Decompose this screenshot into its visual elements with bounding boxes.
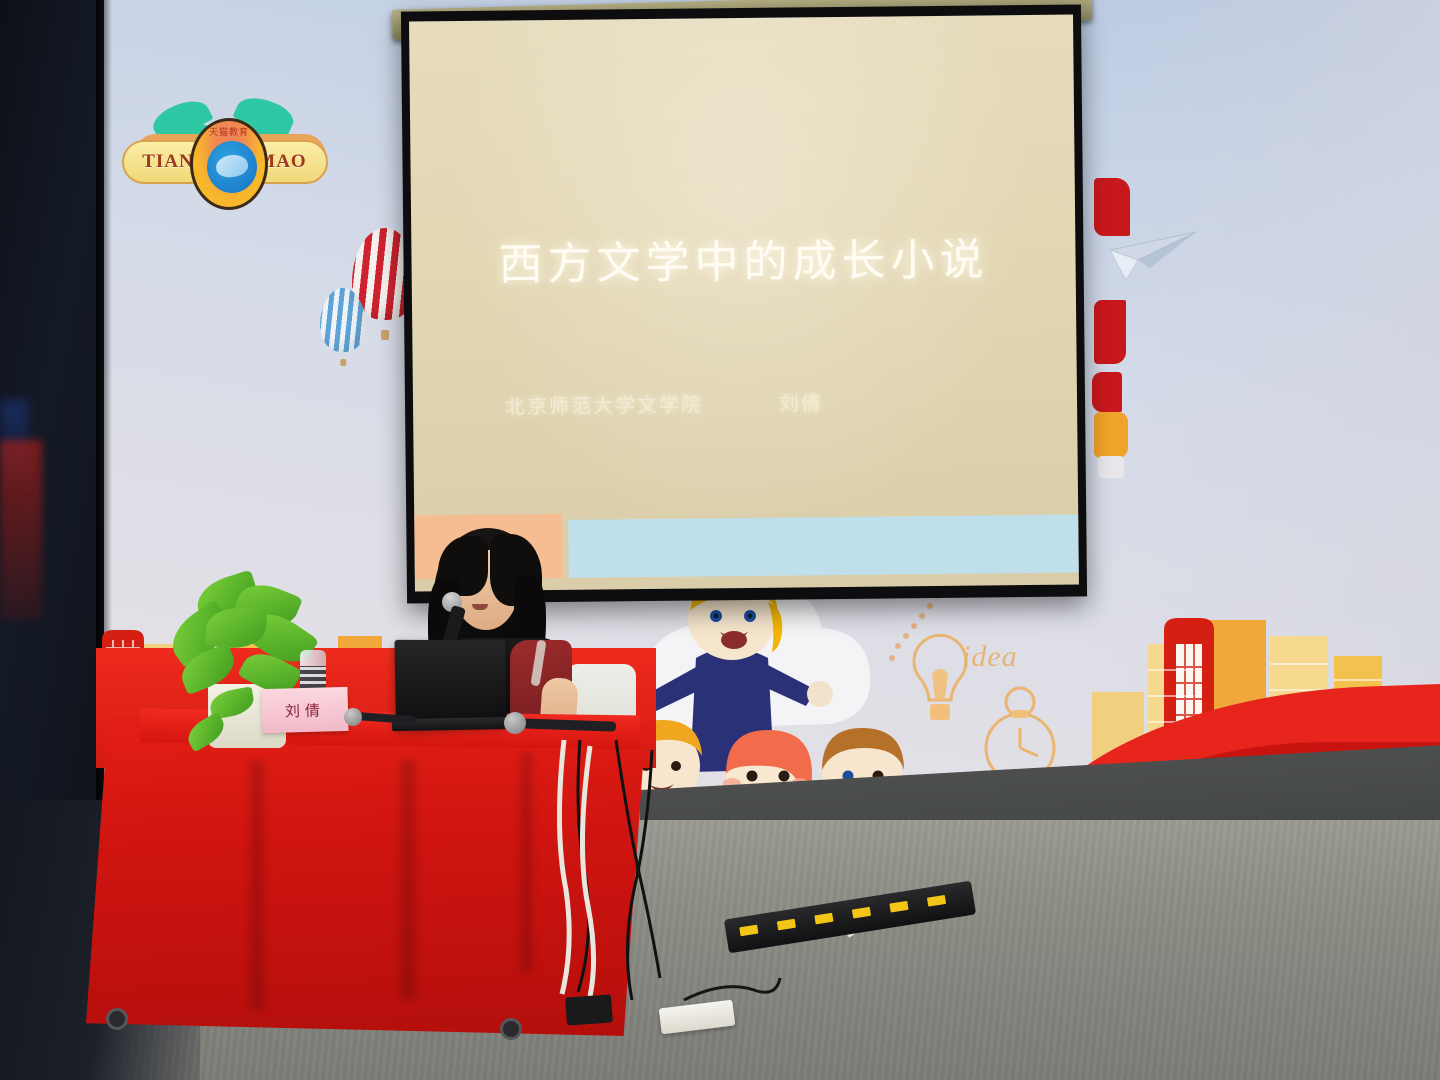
balloon-basket [340, 359, 346, 366]
table-caster [106, 1008, 128, 1030]
dotted-trail-icon [880, 592, 950, 672]
projection-screen: 西方文学中的成长小说 北京师范大学文学院 刘倩 [401, 4, 1087, 603]
projector-glow [409, 15, 1079, 592]
mural-red-shape [1092, 372, 1122, 412]
logo-chinese-arc: 天猫教育 [193, 125, 265, 138]
cloth-fold [400, 760, 416, 1000]
logo-emblem-inner [207, 141, 257, 193]
mural-white-shape [1098, 456, 1124, 478]
table-caster [500, 1018, 522, 1040]
laptop-screen [394, 640, 506, 728]
ramp-stripe [927, 895, 946, 907]
slide-presenter: 刘倩 [779, 387, 823, 416]
ramp-stripe [889, 901, 908, 913]
tianmao-logo: TIAN MAO 天猫教育 [118, 78, 338, 218]
handshake-icon [215, 153, 250, 179]
idea-label: idea [962, 640, 1018, 674]
cloth-fold [250, 760, 264, 1010]
slide-title: 西方文学中的成长小说 [411, 223, 1076, 294]
pillar-red-glow [0, 440, 42, 620]
name-card-label: 刘倩 [285, 699, 326, 721]
balloon-envelope [320, 288, 366, 352]
power-adapter [565, 994, 613, 1025]
slide-footer-blue [568, 515, 1079, 578]
balloon-basket [381, 330, 389, 340]
name-card: 刘倩 [261, 687, 348, 733]
paper-plane-icon [1108, 228, 1198, 286]
ramp-stripe [739, 925, 758, 937]
ramp-stripe [852, 907, 871, 919]
slide-affiliation: 北京师范大学文学院 [505, 388, 703, 419]
mural-red-shape [1094, 300, 1126, 364]
slide-subtitle: 北京师范大学文学院 刘倩 [505, 386, 965, 420]
microphone-head-icon [344, 708, 362, 726]
microphone-head-icon [504, 712, 526, 734]
hot-air-balloon-icon [320, 288, 366, 366]
mural-orange-shape [1094, 412, 1128, 458]
logo-emblem: 天猫教育 [190, 118, 268, 210]
ramp-stripe [777, 919, 796, 931]
ramp-stripe [814, 913, 833, 925]
slide-surface: 西方文学中的成长小说 北京师范大学文学院 刘倩 [409, 15, 1079, 592]
presentation-photo-scene: TIAN MAO 天猫教育 [0, 0, 1440, 1080]
